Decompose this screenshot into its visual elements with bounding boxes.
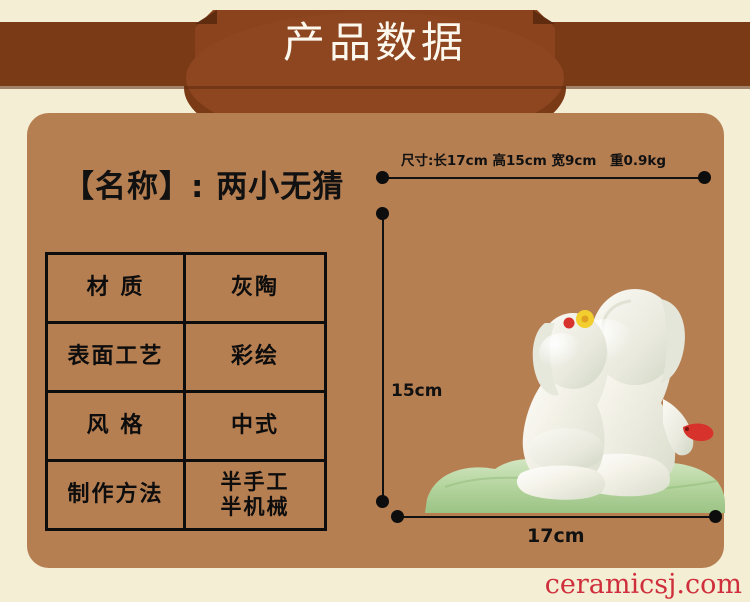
dimension-line-length: [397, 516, 715, 518]
spec-value-surface-craft: 彩绘: [185, 323, 326, 392]
spec-value-material: 灰陶: [185, 254, 326, 323]
spec-value-style: 中式: [185, 392, 326, 461]
spec-value-production-method: 半手工半机械: [185, 461, 326, 530]
dimension-line-height: [382, 213, 384, 501]
red-flower: [564, 318, 575, 329]
dimension-endpoint-dot: [376, 207, 389, 220]
dimension-endpoint-dot: [709, 510, 722, 523]
page-title: 产品数据: [0, 14, 750, 72]
height-dimension-label: 15cm: [391, 381, 442, 401]
page-header-banner: 产品数据: [0, 0, 750, 100]
dimension-endpoint-dot: [698, 171, 711, 184]
table-row: 风 格 中式: [47, 392, 326, 461]
size-caption: 尺寸:长17cm 高15cm 宽9cm 重0.9kg: [401, 149, 666, 169]
dimension-endpoint-dot: [391, 510, 404, 523]
spec-label-production-method: 制作方法: [47, 461, 185, 530]
length-dimension-label: 17cm: [527, 525, 585, 547]
spec-label-style: 风 格: [47, 392, 185, 461]
product-photo: [425, 241, 725, 513]
specification-table: 材 质 灰陶 表面工艺 彩绘 风 格 中式 制作方法 半手工半机械: [45, 252, 327, 531]
dimension-line-top: [382, 177, 704, 179]
banner-band-shadow: [0, 86, 750, 89]
spec-label-material: 材 质: [47, 254, 185, 323]
site-watermark: ceramicsj.com: [545, 569, 742, 600]
dimension-endpoint-dot: [376, 495, 389, 508]
spec-label-surface-craft: 表面工艺: [47, 323, 185, 392]
table-row: 表面工艺 彩绘: [47, 323, 326, 392]
dimension-endpoint-dot: [376, 171, 389, 184]
table-row: 材 质 灰陶: [47, 254, 326, 323]
product-data-panel: 【名称】: 两小无猜 材 质 灰陶 表面工艺 彩绘 风 格 中式 制作方法 半手…: [27, 113, 724, 568]
product-name: 【名称】: 两小无猜: [63, 161, 344, 206]
table-row: 制作方法 半手工半机械: [47, 461, 326, 530]
